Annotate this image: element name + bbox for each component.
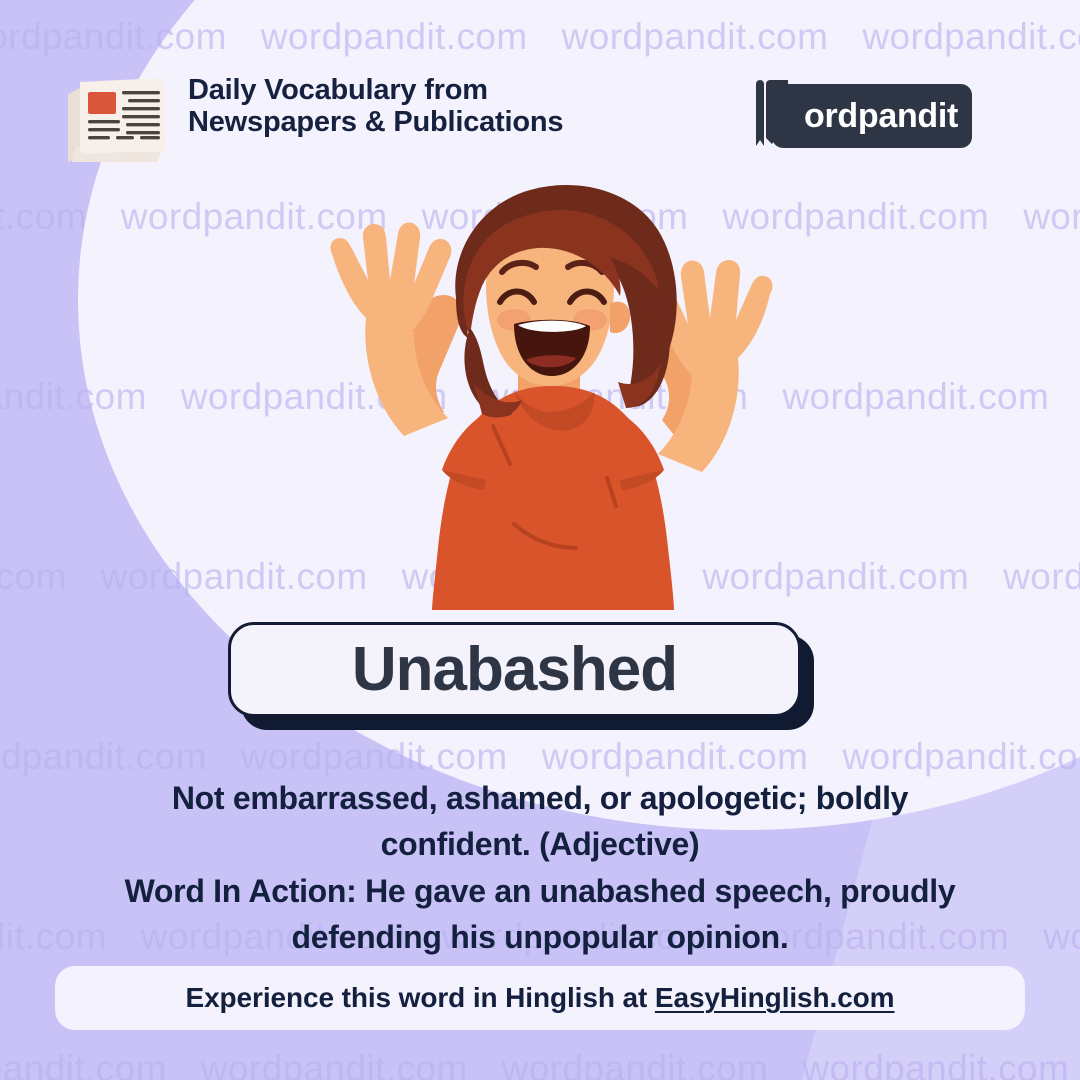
header-title-line1: Daily Vocabulary from [188,74,488,106]
header-title-line2: Newspapers & Publications [188,106,563,138]
definition-line-4: defending his unpopular opinion. [60,914,1020,960]
definition-line-1: Not embarrassed, ashamed, or apologetic;… [60,775,1020,821]
vocabulary-word: Unabashed [352,639,677,701]
word-card: Unabashed [228,622,816,730]
hinglish-cta-prefix: Experience this word in Hinglish at [186,982,655,1013]
definition-block: Not embarrassed, ashamed, or apologetic;… [60,775,1020,961]
definition-line-2: confident. (Adjective) [60,821,1020,867]
wordpandit-logo[interactable]: ordpandit [748,84,972,148]
definition-line-3: Word In Action: He gave an unabashed spe… [60,868,1020,914]
word-card-face: Unabashed [228,622,801,717]
hinglish-cta-bar[interactable]: Experience this word in Hinglish at Easy… [55,966,1025,1030]
poster-canvas: wordpandit.comwordpandit.comwordpandit.c… [0,0,1080,1080]
header-title: Daily Vocabulary from Newspapers & Publi… [188,74,563,139]
header: Daily Vocabulary from Newspapers & Publi… [0,62,1080,172]
bookmark-w-icon [748,80,794,152]
newspaper-icon [58,72,176,164]
cheering-woman-illustration [318,168,788,610]
hinglish-cta-text: Experience this word in Hinglish at Easy… [186,982,895,1014]
easyhinglish-link[interactable]: EasyHinglish.com [655,982,895,1013]
logo-text: ordpandit [804,84,972,148]
